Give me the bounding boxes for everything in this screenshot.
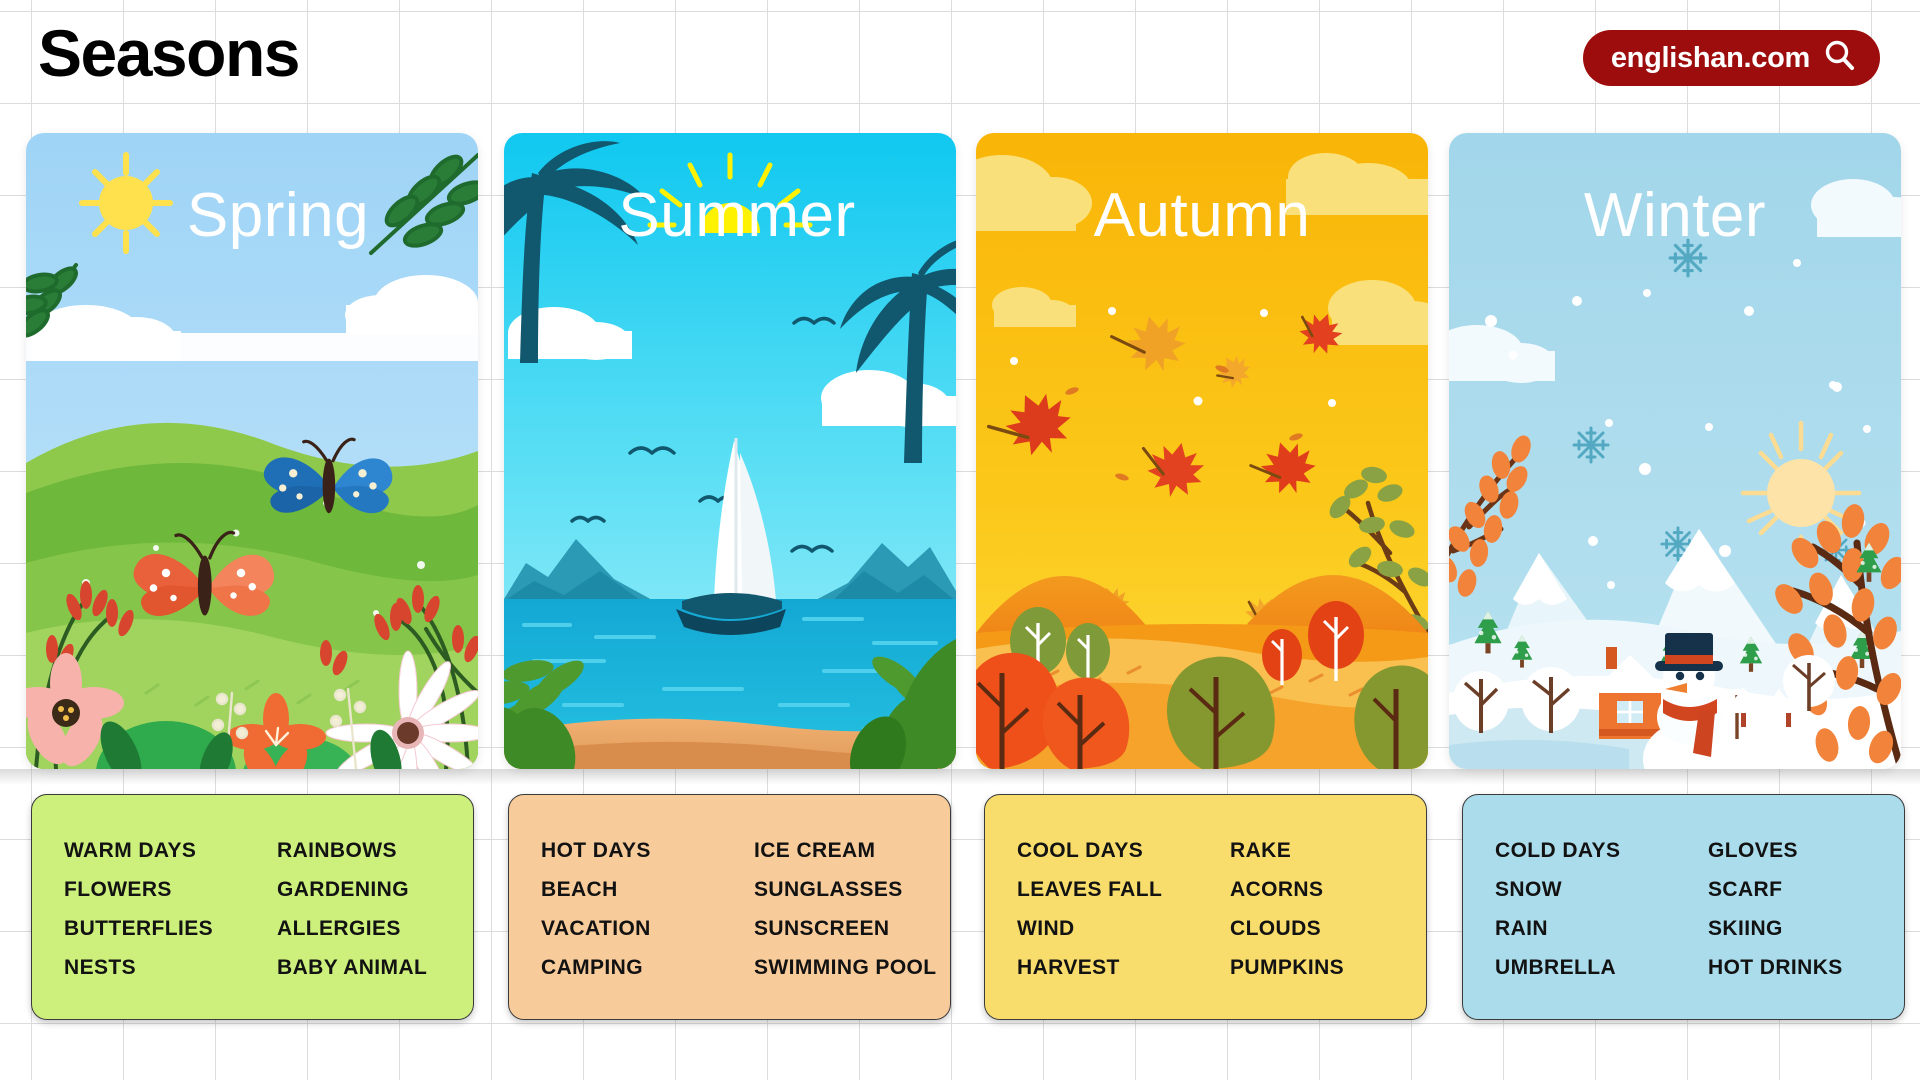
- word-box-autumn: COOL DAYS RAKE LEAVES FALL ACORNS WIND C…: [984, 794, 1427, 1020]
- word-item: WIND: [1017, 909, 1230, 948]
- word-item: GLOVES: [1708, 831, 1904, 870]
- word-item: PUMPKINS: [1230, 948, 1426, 987]
- word-boxes-row: WARM DAYS RAINBOWS FLOWERS GARDENING BUT…: [0, 794, 1920, 1020]
- brand-badge[interactable]: englishan.com: [1583, 30, 1880, 86]
- word-item: RAIN: [1495, 909, 1708, 948]
- word-item: SKIING: [1708, 909, 1904, 948]
- season-cards-row: Spring: [0, 133, 1920, 769]
- word-item: HOT DRINKS: [1708, 948, 1904, 987]
- word-item: CAMPING: [541, 948, 754, 987]
- brand-label: englishan.com: [1611, 42, 1810, 75]
- word-item: FLOWERS: [64, 870, 277, 909]
- word-item: SNOW: [1495, 870, 1708, 909]
- word-item: HARVEST: [1017, 948, 1230, 987]
- magnifier-search-icon: [1822, 38, 1858, 79]
- word-item: BEACH: [541, 870, 754, 909]
- word-item: CLOUDS: [1230, 909, 1426, 948]
- word-box-spring: WARM DAYS RAINBOWS FLOWERS GARDENING BUT…: [31, 794, 474, 1020]
- word-item: RAKE: [1230, 831, 1426, 870]
- word-item: LEAVES FALL: [1017, 870, 1230, 909]
- word-item: HOT DAYS: [541, 831, 754, 870]
- word-item: COOL DAYS: [1017, 831, 1230, 870]
- word-item: BUTTERFLIES: [64, 909, 277, 948]
- season-card-winter[interactable]: Winter: [1449, 133, 1901, 769]
- season-card-spring[interactable]: Spring: [26, 133, 478, 769]
- page-title: Seasons: [38, 20, 299, 86]
- divider-shelf: [0, 769, 1920, 785]
- word-box-winter: COLD DAYS GLOVES SNOW SCARF RAIN SKIING …: [1462, 794, 1905, 1020]
- word-item: ICE CREAM: [754, 831, 950, 870]
- word-item: VACATION: [541, 909, 754, 948]
- word-item: BABY ANIMAL: [277, 948, 473, 987]
- word-item: SCARF: [1708, 870, 1904, 909]
- word-item: COLD DAYS: [1495, 831, 1708, 870]
- word-item: GARDENING: [277, 870, 473, 909]
- word-item: SWIMMING POOL: [754, 948, 950, 987]
- word-item: NESTS: [64, 948, 277, 987]
- word-item: WARM DAYS: [64, 831, 277, 870]
- season-card-summer[interactable]: Summer: [504, 133, 956, 769]
- word-item: SUNGLASSES: [754, 870, 950, 909]
- season-card-autumn[interactable]: Autumn: [976, 133, 1428, 769]
- word-item: ACORNS: [1230, 870, 1426, 909]
- word-item: ALLERGIES: [277, 909, 473, 948]
- infographic-canvas: Seasons englishan.com: [0, 0, 1920, 1080]
- word-item: UMBRELLA: [1495, 948, 1708, 987]
- word-item: SUNSCREEN: [754, 909, 950, 948]
- word-item: RAINBOWS: [277, 831, 473, 870]
- word-box-summer: HOT DAYS ICE CREAM BEACH SUNGLASSES VACA…: [508, 794, 951, 1020]
